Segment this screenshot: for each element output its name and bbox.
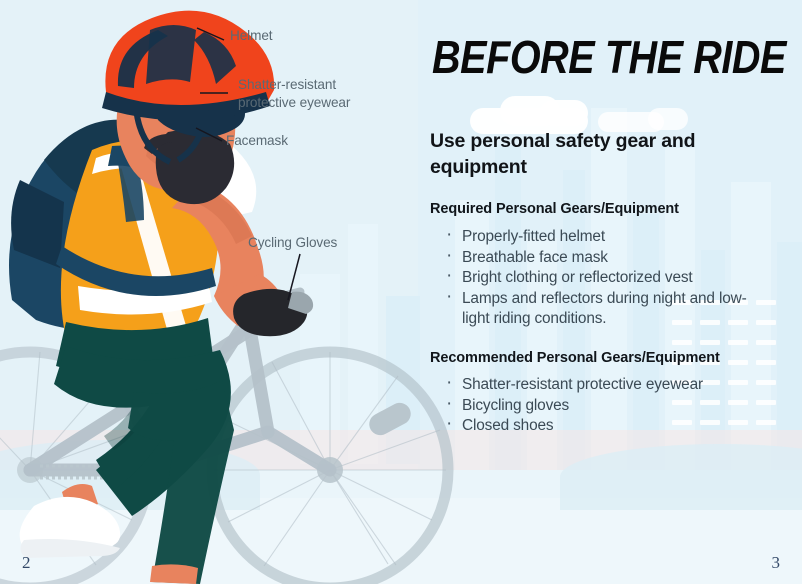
page-number-right: 3 — [772, 553, 781, 573]
callout-label-cycling-gloves: Cycling Gloves — [248, 234, 337, 252]
page-number-left: 2 — [22, 553, 31, 573]
list-item: Bicycling gloves — [440, 396, 770, 417]
page-subhead: Use personal safety gear and equipment — [430, 128, 760, 180]
page-title: BEFORE THE RIDE — [432, 32, 733, 82]
required-gear-list: Properly-fitted helmet Breathable face m… — [440, 227, 770, 330]
list-item: Properly-fitted helmet — [440, 227, 770, 248]
recommended-gear-heading: Recommended Personal Gears/Equipment — [430, 350, 770, 366]
slide-canvas: Helmet Shatter-resistant protective eyew… — [0, 0, 802, 584]
callout-label-eyewear: Shatter-resistant protective eyewear — [238, 76, 388, 112]
list-item: Shatter-resistant protective eyewear — [440, 375, 770, 396]
recommended-gear-list: Shatter-resistant protective eyewear Bic… — [440, 375, 770, 437]
cyclist-illustration — [0, 0, 460, 584]
list-item: Lamps and reflectors during night and lo… — [440, 289, 770, 330]
callout-label-helmet: Helmet — [230, 27, 272, 45]
list-item: Breathable face mask — [440, 248, 770, 269]
list-item: Closed shoes — [440, 416, 770, 437]
callout-label-facemask: Facemask — [226, 132, 288, 150]
list-item: Bright clothing or reflectorized vest — [440, 268, 770, 289]
cycling-glove — [233, 289, 313, 336]
required-gear-heading: Required Personal Gears/Equipment — [430, 201, 770, 217]
